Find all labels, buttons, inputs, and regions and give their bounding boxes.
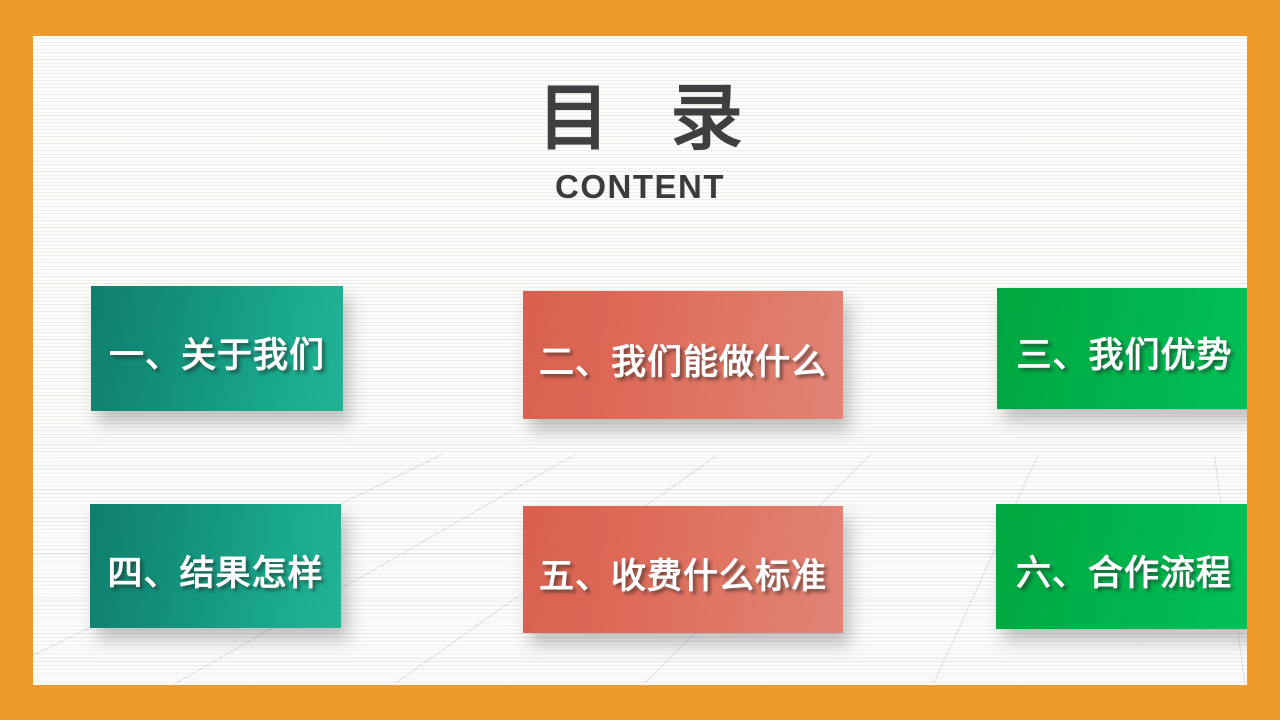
slide-content-panel: 目 录 CONTENT 一、关于我们 二、我们能做什么 三、我们优势 四、结果怎… [33, 36, 1247, 685]
page-title: 目 录 [51, 82, 1247, 154]
agenda-card-1-label: 一、关于我们 [109, 327, 325, 378]
agenda-card-3-label: 三、我们优势 [1016, 327, 1232, 378]
presentation-slide: 目 录 CONTENT 一、关于我们 二、我们能做什么 三、我们优势 四、结果怎… [0, 0, 1280, 720]
page-title-block: 目 录 CONTENT [33, 82, 1247, 206]
agenda-card-6[interactable]: 六、合作流程 [996, 504, 1247, 629]
page-subtitle: CONTENT [33, 168, 1247, 206]
agenda-card-5-label: 五、收费什么标准 [539, 548, 827, 599]
agenda-card-3[interactable]: 三、我们优势 [997, 288, 1247, 409]
agenda-card-6-label: 六、合作流程 [1016, 545, 1232, 596]
agenda-card-5[interactable]: 五、收费什么标准 [523, 506, 843, 633]
agenda-card-2[interactable]: 二、我们能做什么 [523, 291, 843, 419]
agenda-card-4[interactable]: 四、结果怎样 [90, 504, 341, 628]
agenda-card-2-label: 二、我们能做什么 [539, 334, 827, 385]
agenda-card-1[interactable]: 一、关于我们 [91, 286, 343, 411]
agenda-card-4-label: 四、结果怎样 [107, 545, 323, 596]
